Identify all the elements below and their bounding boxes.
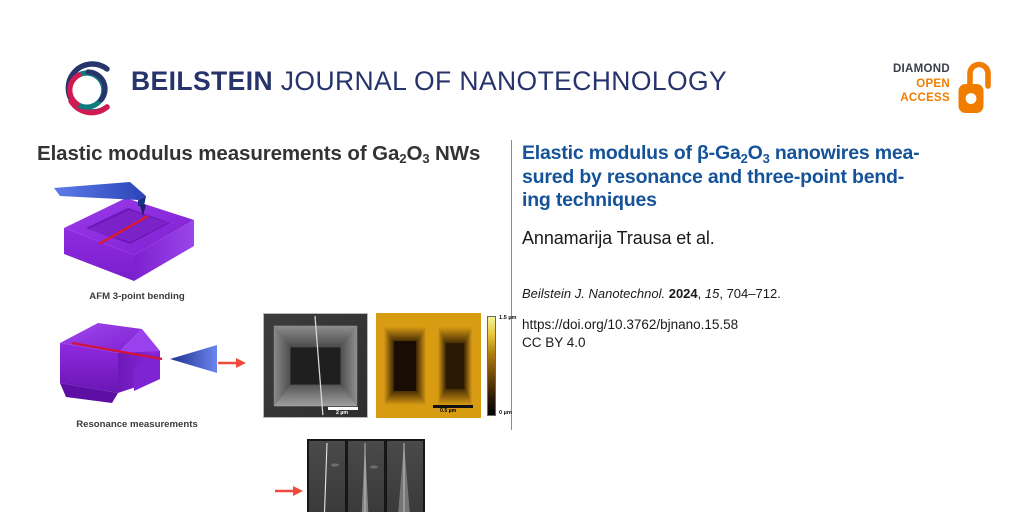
resonance-illustration [42, 311, 232, 421]
oa-diamond-label: DIAMOND [872, 62, 950, 77]
afm-bending-schematic: AFM 3-point bending [42, 176, 232, 306]
caption-resonance: Resonance measurements [42, 419, 232, 430]
afm-scalebar-label: 0.5 µm [440, 408, 456, 414]
open-access-label-group: DIAMOND OPEN ACCESS [872, 62, 950, 106]
citation-journal: Beilstein J. Nanotechnol. [522, 286, 665, 301]
ga-title-o: O [406, 142, 422, 165]
caption-afm-bending: AFM 3-point bending [42, 291, 232, 302]
article-title-line2: sured by resonance and three-point bend- [522, 166, 904, 188]
ga-title-sub-3: 3 [422, 151, 429, 166]
article-title-sub-3: 3 [763, 151, 770, 166]
article-license: CC BY 4.0 [522, 334, 992, 352]
citation-year: 2024 [669, 286, 698, 301]
arrow-right-icon-2 [274, 483, 304, 499]
oa-open-label: OPEN [872, 77, 950, 92]
graphical-abstract: Elastic modulus measurements of Ga2O3 NW… [32, 136, 500, 431]
citation-volume: 15 [705, 286, 719, 301]
ga-title-nws: NWs [429, 142, 480, 165]
ga-title-text: Elastic modulus measurements of Ga [37, 142, 399, 165]
article-title-part2: nanowires mea- [770, 142, 920, 164]
graphical-abstract-title: Elastic modulus measurements of Ga2O3 NW… [37, 142, 480, 166]
sem-image-trench: 2 µm [263, 313, 368, 418]
sem-resonance-strips [307, 439, 425, 512]
article-title-sub-2: 2 [741, 151, 748, 166]
article-metadata: Elastic modulus of β-Ga2O3 nanowires mea… [522, 142, 992, 352]
resonance-schematic: Resonance measurements [42, 311, 232, 436]
afm-bending-illustration [42, 176, 232, 291]
colorbar-min-label: 0 µm [499, 410, 512, 416]
article-title-o: O [748, 142, 763, 164]
diamond-open-access-badge: DIAMOND OPEN ACCESS [872, 60, 994, 118]
oa-access-label: ACCESS [872, 91, 950, 106]
open-padlock-icon [956, 60, 994, 116]
sem-scalebar-label: 2 µm [336, 410, 348, 416]
beilstein-swirl-logo [57, 56, 123, 120]
journal-article-card: BEILSTEIN JOURNAL OF NANOTECHNOLOGY DIAM… [0, 0, 1024, 512]
article-authors: Annamarija Trausa et al. [522, 228, 992, 249]
colorbar-max-label: 1.5 µm [499, 315, 517, 321]
citation-pages: 704–712. [727, 286, 781, 301]
afm-colorbar [487, 316, 496, 416]
article-citation: Beilstein J. Nanotechnol. 2024, 15, 704–… [522, 285, 992, 302]
journal-header: BEILSTEIN JOURNAL OF NANOTECHNOLOGY DIAM… [0, 0, 1024, 130]
ga-title-sub-2: 2 [399, 151, 406, 166]
vertical-divider [511, 140, 512, 430]
article-title[interactable]: Elastic modulus of β-Ga2O3 nanowires mea… [522, 142, 992, 212]
article-doi-link[interactable]: https://doi.org/10.3762/bjnano.15.58 [522, 316, 992, 334]
masthead-beilstein: BEILSTEIN [131, 66, 273, 96]
article-title-line3: ing techniques [522, 189, 657, 211]
journal-masthead: BEILSTEIN JOURNAL OF NANOTECHNOLOGY [131, 68, 727, 95]
article-title-part1: Elastic modulus of β-Ga [522, 142, 741, 164]
masthead-journal-of-nanotechnology: JOURNAL OF NANOTECHNOLOGY [273, 66, 727, 96]
afm-height-map: 0.5 µm [376, 313, 481, 418]
